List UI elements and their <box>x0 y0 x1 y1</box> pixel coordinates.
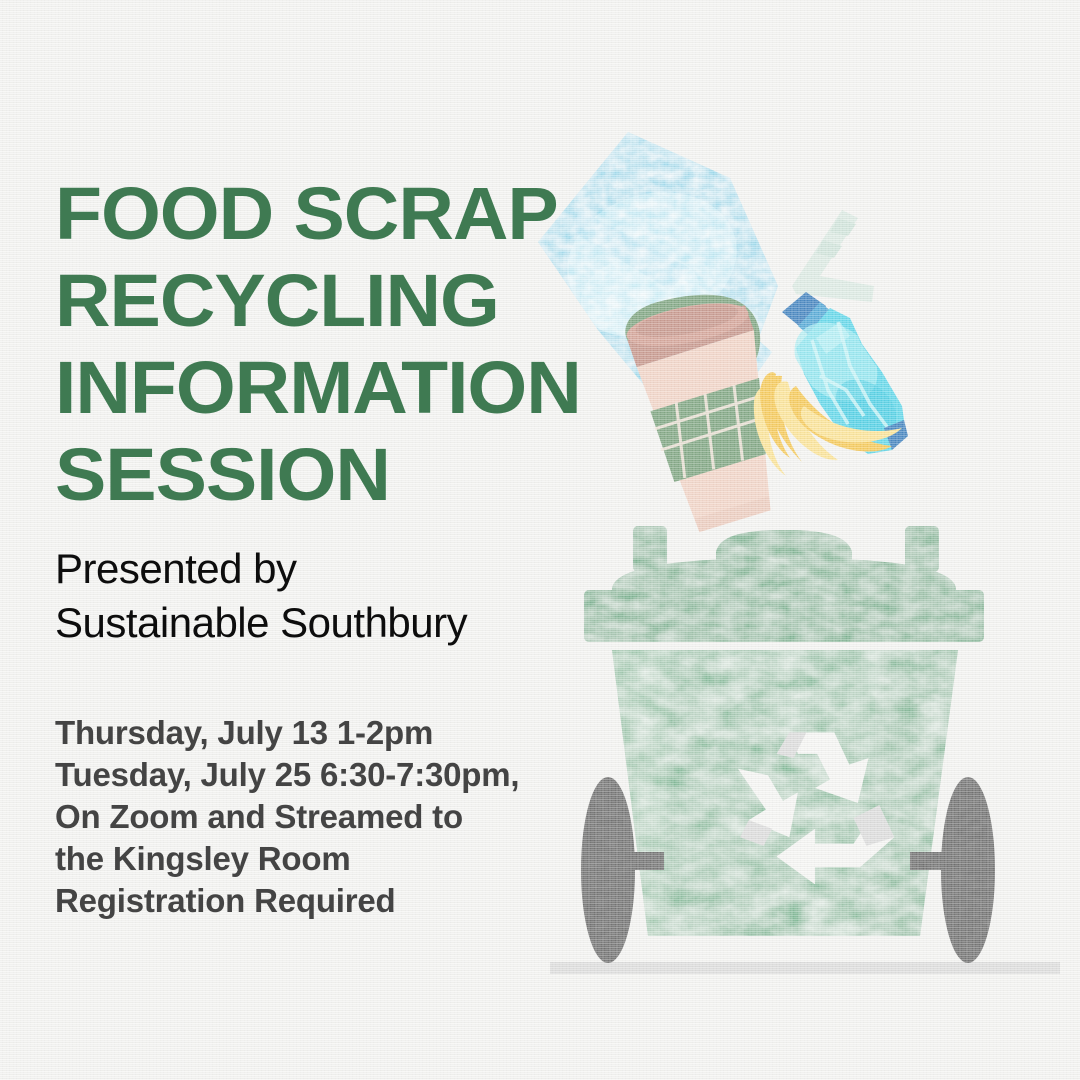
details-line-2: Tuesday, July 25 6:30-7:30pm, <box>55 754 635 796</box>
presenter-line-1: Presented by <box>55 542 635 596</box>
details-line-1: Thursday, July 13 1-2pm <box>55 712 635 754</box>
headline-line-3: INFORMATION <box>55 344 658 431</box>
ground-line <box>550 962 1060 974</box>
presenter-block: Presented by Sustainable Southbury <box>55 542 635 650</box>
headline-line-4: SESSION <box>55 431 658 518</box>
details-line-3: On Zoom and Streamed to <box>55 796 635 838</box>
presenter-line-2: Sustainable Southbury <box>55 596 635 650</box>
bin-lid <box>584 526 984 642</box>
text-column: FOOD SCRAP RECYCLING INFORMATION SESSION… <box>55 170 635 922</box>
poster-canvas: FOOD SCRAP RECYCLING INFORMATION SESSION… <box>0 0 1080 1080</box>
drinking-straw-icon <box>792 210 874 302</box>
details-line-5: Registration Required <box>55 880 635 922</box>
recycling-bin-body <box>612 650 958 936</box>
headline-line-2: RECYCLING <box>55 257 658 344</box>
headline-line-1: FOOD SCRAP <box>55 170 658 257</box>
wheel-right <box>941 777 995 963</box>
event-details-block: Thursday, July 13 1-2pm Tuesday, July 25… <box>55 712 635 922</box>
details-line-4: the Kingsley Room <box>55 838 635 880</box>
page-title: FOOD SCRAP RECYCLING INFORMATION SESSION <box>55 170 658 518</box>
